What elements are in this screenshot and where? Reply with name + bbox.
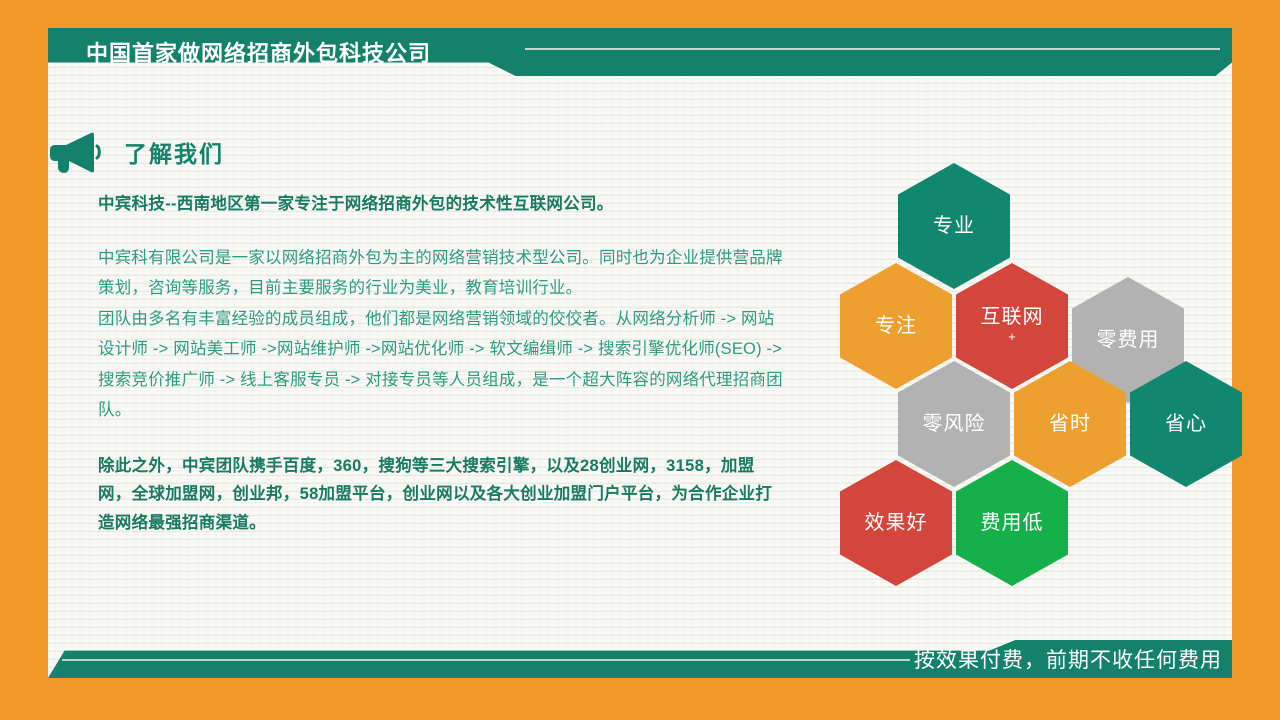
top-banner-rule xyxy=(525,48,1220,50)
hexagon-tile: 互联网+ xyxy=(956,263,1068,389)
hexagon-label: 零费用 xyxy=(1097,329,1160,351)
hexagon-label: 省时 xyxy=(1049,413,1091,435)
hexagon-label: 效果好 xyxy=(865,512,928,534)
hexagon-label: 省心 xyxy=(1165,413,1207,435)
copy-paragraph-1: 中宾科有限公司是一家以网络招商外包为主的网络营销技术型公司。同时也为企业提供营品… xyxy=(98,243,788,304)
hexagon-label: 互联网 xyxy=(981,306,1044,328)
megaphone-icon xyxy=(48,130,102,174)
hexagon-cluster: 专业专注互联网+零费用零风险省时省心效果好费用低 xyxy=(820,150,1232,550)
slide-root: 中国首家做网络招商外包科技公司 了解我们 中宾科技--西南地区第一家专注于网络招… xyxy=(0,0,1280,720)
hexagon-label: 费用低 xyxy=(981,512,1044,534)
copy-closing: 除此之外，中宾团队携手百度，360，搜狗等三大搜索引擎，以及28创业网，3158… xyxy=(98,452,788,537)
hexagon-tile: 专业 xyxy=(898,163,1010,289)
section-heading-label: 了解我们 xyxy=(124,135,224,169)
bottom-banner-rule xyxy=(62,659,910,661)
bottom-banner-text: 按效果付费，前期不收任何费用 xyxy=(914,640,1222,678)
hexagon-sublabel: + xyxy=(1008,329,1016,346)
copy-paragraph-2: 团队由多名有丰富经验的成员组成，他们都是网络营销领域的佼佼者。从网络分析师 ->… xyxy=(98,304,788,426)
copy-lead: 中宾科技--西南地区第一家专注于网络招商外包的技术性互联网公司。 xyxy=(98,192,788,217)
hexagon-tile: 零风险 xyxy=(898,361,1010,487)
about-copy: 中宾科技--西南地区第一家专注于网络招商外包的技术性互联网公司。 中宾科有限公司… xyxy=(98,192,788,537)
hexagon-label: 零风险 xyxy=(923,413,986,435)
hexagon-label: 专业 xyxy=(933,215,975,237)
top-banner-title: 中国首家做网络招商外包科技公司 xyxy=(48,28,548,76)
hexagon-tile: 专注 xyxy=(840,263,952,389)
section-heading: 了解我们 xyxy=(48,130,224,174)
hexagon-label: 专注 xyxy=(875,315,917,337)
